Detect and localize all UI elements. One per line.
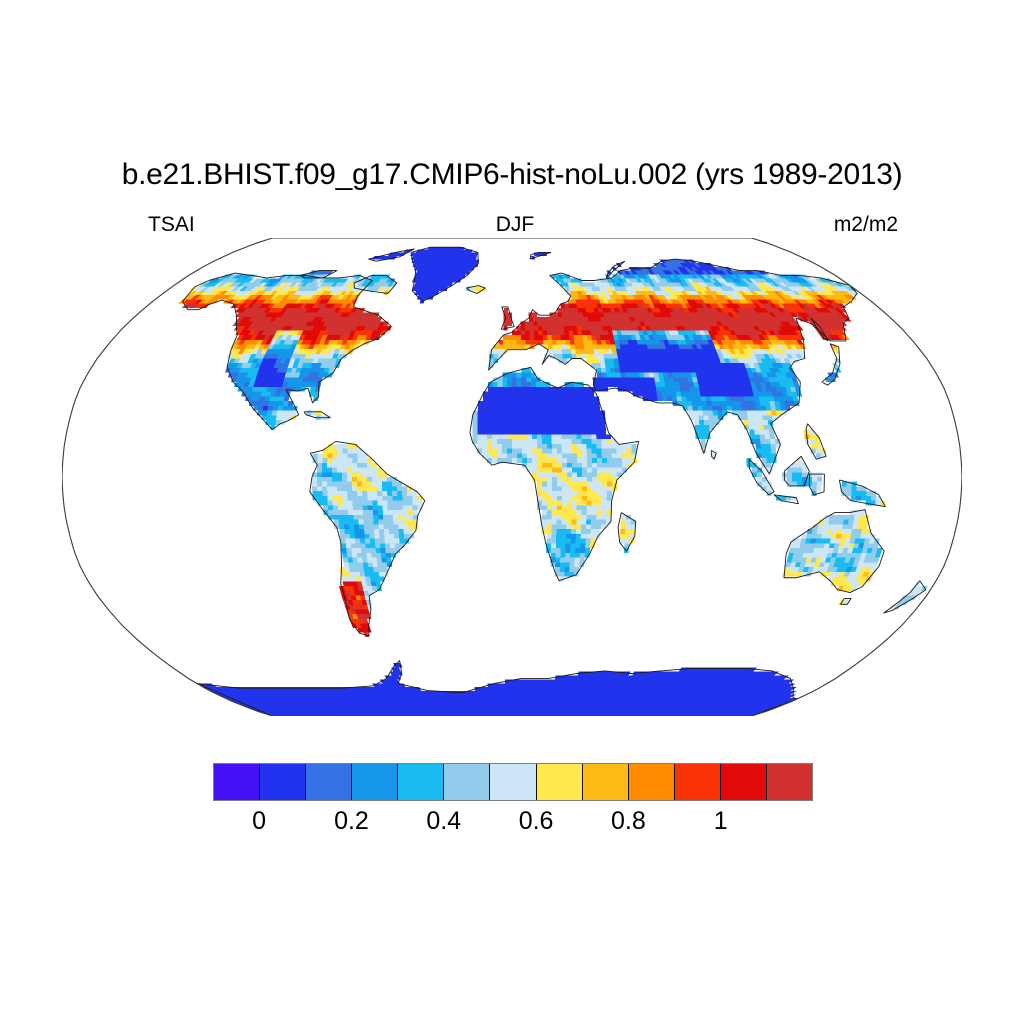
map-panel [62,238,962,716]
colorbar-tick-label: 0.2 [334,806,369,836]
colorbar-tick-label: 0 [252,806,266,836]
colorbar-tick-label: 0.6 [519,806,554,836]
map-data-layer [178,247,928,716]
colorbar[interactable] [213,763,813,801]
colorbar-band[interactable] [444,764,490,800]
colorbar-band[interactable] [767,764,812,800]
colorbar-band[interactable] [306,764,352,800]
world-map-robinson [62,238,962,716]
units-label: m2/m2 [834,212,898,238]
colorbar-band[interactable] [583,764,629,800]
climate-map-figure: b.e21.BHIST.f09_g17.CMIP6-hist-noLu.002 … [0,0,1024,1024]
colorbar-band[interactable] [260,764,306,800]
colorbar-band[interactable] [214,764,260,800]
subtitle-row: TSAI DJF m2/m2 [120,212,910,238]
coastline-newzealand [884,581,926,613]
page-title: b.e21.BHIST.f09_g17.CMIP6-hist-noLu.002 … [0,158,1024,192]
colorbar-band[interactable] [352,764,398,800]
colorbar-tick-label: 1 [714,806,728,836]
colorbar-band[interactable] [537,764,583,800]
colorbar-tick-label: 0.4 [426,806,461,836]
colorbar-band[interactable] [629,764,675,800]
colorbar-band[interactable] [721,764,767,800]
colorbar-band[interactable] [398,764,444,800]
colorbar-band[interactable] [675,764,721,800]
season-label: DJF [120,212,910,238]
colorbar-band[interactable] [490,764,536,800]
colorbar-tick-labels: 00.20.40.60.81 [213,806,813,840]
colorbar-tick-label: 0.8 [611,806,646,836]
